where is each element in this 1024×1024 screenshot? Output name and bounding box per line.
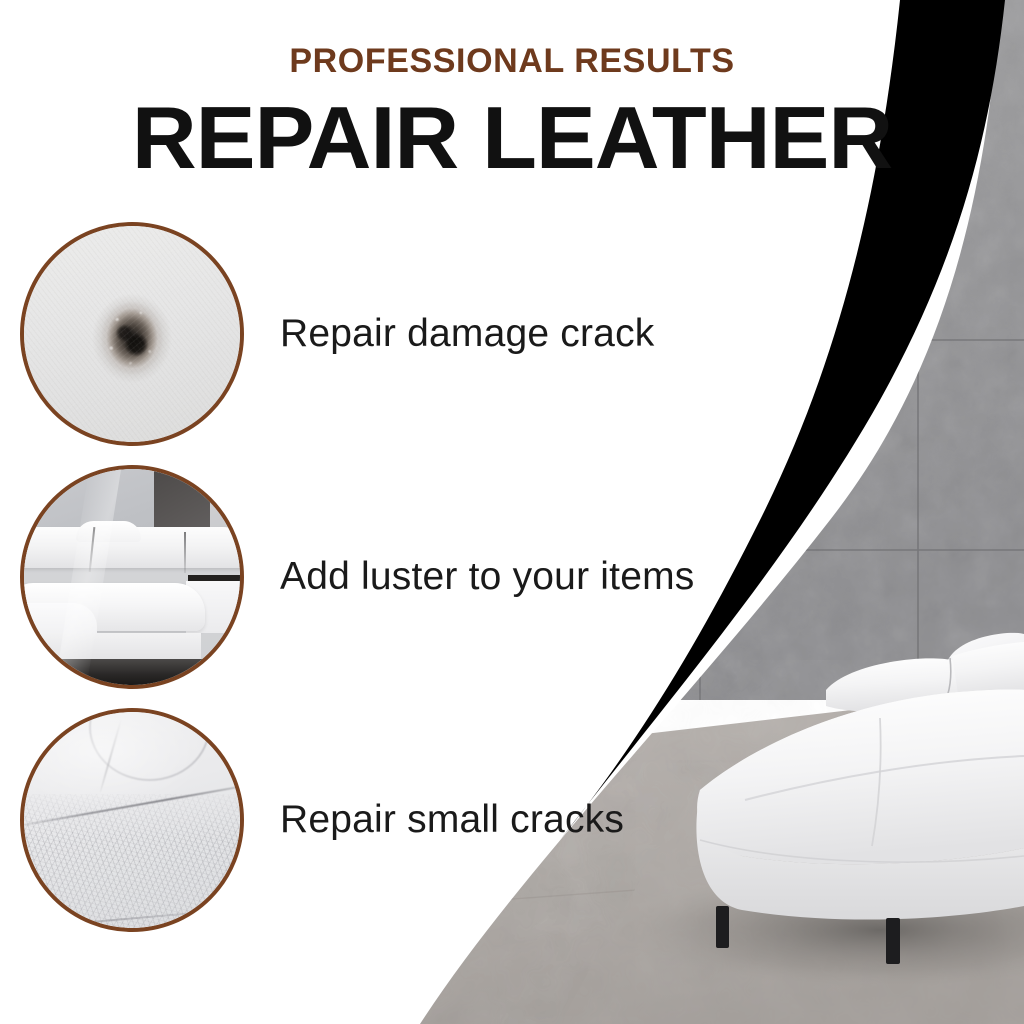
feature-row: Add luster to your items bbox=[0, 465, 760, 689]
sofa-room-scene bbox=[24, 469, 240, 685]
feature-label: Repair small cracks bbox=[280, 798, 624, 842]
feature-row: Repair damage crack bbox=[0, 222, 760, 446]
feature-row: Repair small cracks bbox=[0, 708, 760, 932]
feature-list: Repair damage crack Add luster to your bbox=[0, 222, 760, 951]
damaged-leather-photo bbox=[20, 222, 244, 446]
feature-label: Repair damage crack bbox=[280, 312, 654, 356]
cushion-seam bbox=[184, 532, 186, 573]
white-sofa-photo bbox=[20, 465, 244, 689]
cracked-leather-photo bbox=[20, 708, 244, 932]
feature-label: Add luster to your items bbox=[280, 555, 694, 599]
leather-cracks-texture bbox=[24, 712, 240, 928]
damage-blemish bbox=[95, 296, 169, 380]
room-wall-dark bbox=[154, 469, 214, 534]
leather-damage-texture bbox=[24, 226, 240, 442]
gloss-highlight bbox=[24, 712, 240, 928]
